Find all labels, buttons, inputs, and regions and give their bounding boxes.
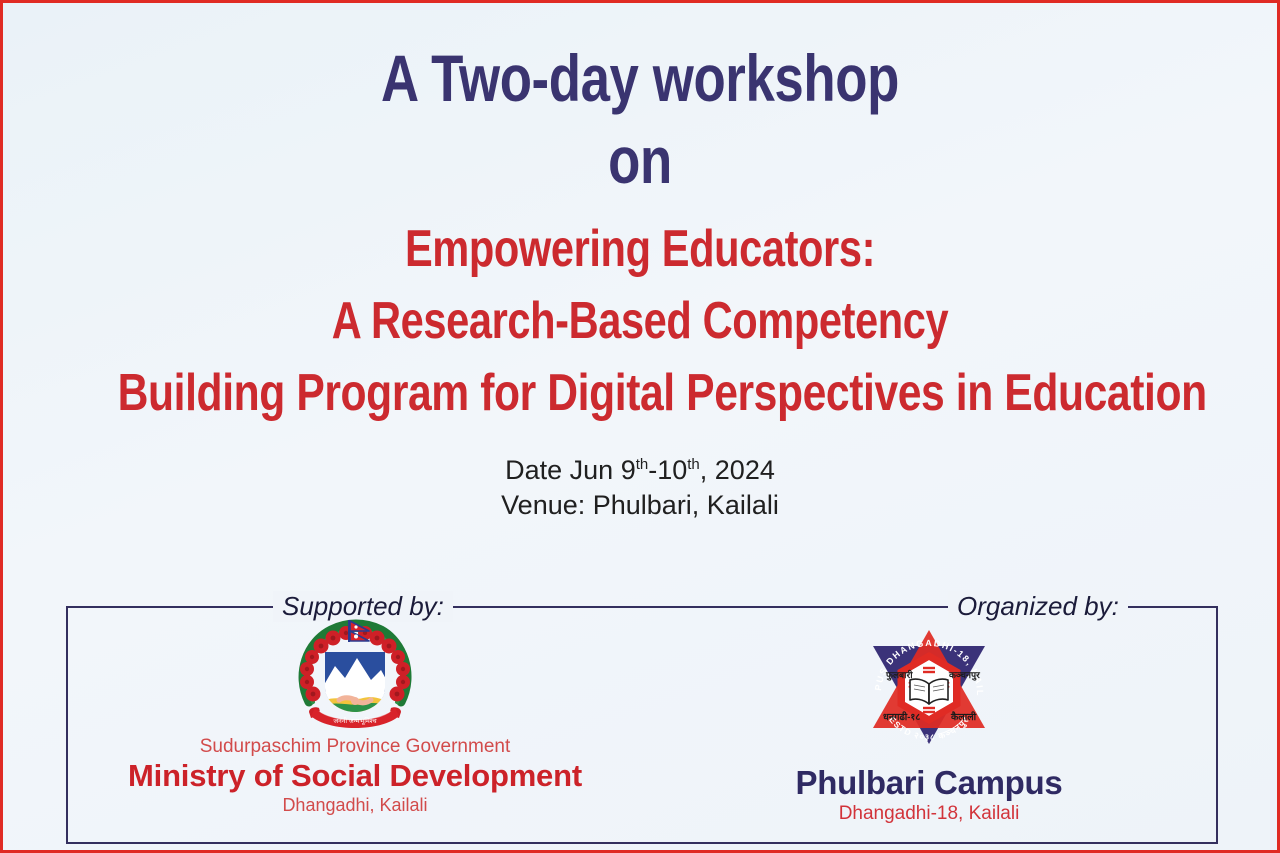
nepal-government-emblem-icon: जननी जन्मभूमिश्च xyxy=(287,616,423,734)
event-details-block: Date Jun 9th-10th, 2024 Venue: Phulbari,… xyxy=(3,447,1277,523)
svg-text:जननी जन्मभूमिश्च: जननी जन्मभूमिश्च xyxy=(333,717,377,725)
event-date-sup-1: th xyxy=(636,456,649,473)
workshop-title-line-2: on xyxy=(130,119,1149,201)
phulbari-campus-star-logo-icon: CAMPUS DHANGADHI-18, KAILALI ESTD २०३८ क… xyxy=(853,616,1005,758)
supporter-province-line: Sudurpaschim Province Government xyxy=(68,735,642,758)
event-date-mid: -10 xyxy=(648,455,687,485)
svg-text:कञ्चनपुर: कञ्चनपुर xyxy=(948,670,980,681)
svg-text:धनगढी-१८: धनगढी-१८ xyxy=(883,711,920,723)
supporter-column: जननी जन्मभूमिश्च Sudurpaschim Province G… xyxy=(68,608,642,816)
event-date-suffix: , 2024 xyxy=(700,455,775,485)
subtitle-line-1: Empowering Educators: xyxy=(130,213,1149,285)
svg-text:कैलाली: कैलाली xyxy=(950,711,977,723)
organizer-name: Phulbari Campus xyxy=(642,764,1216,802)
supporter-ministry-line: Ministry of Social Development xyxy=(68,758,642,794)
event-date-prefix: Date Jun 9 xyxy=(505,455,636,485)
subtitle-line-3: Building Program for Digital Perspective… xyxy=(118,357,1163,429)
organizer-column: CAMPUS DHANGADHI-18, KAILALI ESTD २०३८ क… xyxy=(642,608,1216,826)
headline-block: A Two-day workshop on Empowering Educato… xyxy=(3,37,1277,429)
subtitle-line-2: A Research-Based Competency xyxy=(130,285,1149,357)
organizer-address: Dhangadhi-18, Kailali xyxy=(642,802,1216,826)
event-venue: Venue: Phulbari, Kailali xyxy=(3,488,1277,523)
logos-fieldset: Supported by: Organized by: xyxy=(66,606,1218,844)
supporter-address-line: Dhangadhi, Kailali xyxy=(68,794,642,816)
subtitle-block: Empowering Educators: A Research-Based C… xyxy=(3,213,1277,429)
svg-text:फुलबारी: फुलबारी xyxy=(885,669,913,681)
event-date: Date Jun 9th-10th, 2024 xyxy=(3,447,1277,488)
event-date-sup-2: th xyxy=(687,456,700,473)
workshop-title-line-1: A Two-day workshop xyxy=(130,37,1149,119)
poster-canvas: A Two-day workshop on Empowering Educato… xyxy=(0,0,1280,853)
